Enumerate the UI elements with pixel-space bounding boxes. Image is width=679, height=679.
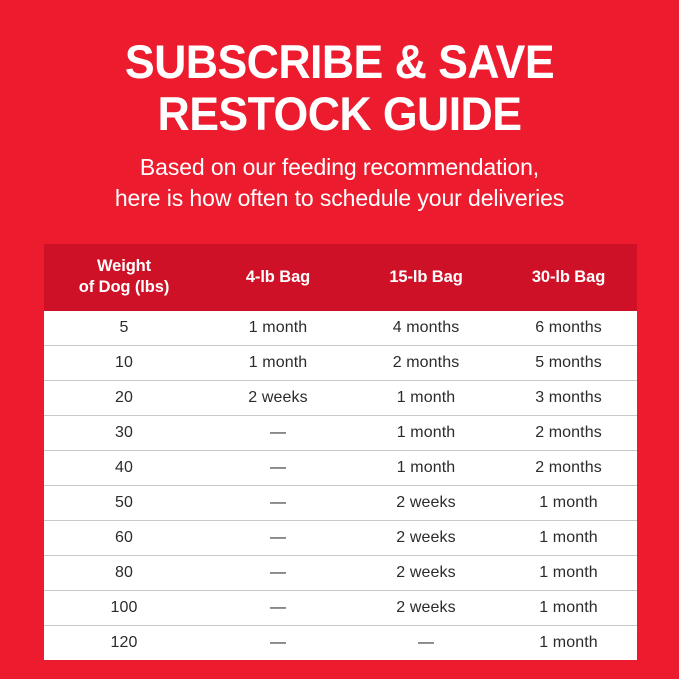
cell-30lb-bag: 1 month	[500, 591, 637, 626]
page-subtitle-line-2: here is how often to schedule your deliv…	[0, 183, 679, 214]
column-header-weight: Weight of Dog (lbs)	[44, 244, 204, 311]
cell-4lb-bag: —	[204, 626, 352, 661]
cell-4lb-bag: —	[204, 451, 352, 486]
cell-30lb-bag: 1 month	[500, 626, 637, 661]
cell-weight: 40	[44, 451, 204, 486]
cell-15lb-bag: 1 month	[352, 381, 500, 416]
cell-weight: 80	[44, 556, 204, 591]
cell-4lb-bag: —	[204, 556, 352, 591]
table-header: Weight of Dog (lbs) 4-lb Bag 15-lb Bag 3…	[44, 244, 637, 311]
column-header-4lb-bag: 4-lb Bag	[204, 244, 352, 311]
page-title-line-2: RESTOCK GUIDE	[17, 88, 662, 140]
cell-30lb-bag: 2 months	[500, 451, 637, 486]
table-row: 40—1 month2 months	[44, 451, 637, 486]
restock-table-container: Weight of Dog (lbs) 4-lb Bag 15-lb Bag 3…	[44, 244, 637, 660]
cell-weight: 120	[44, 626, 204, 661]
cell-weight: 50	[44, 486, 204, 521]
cell-15lb-bag: 2 months	[352, 346, 500, 381]
page-title: SUBSCRIBE & SAVE RESTOCK GUIDE	[17, 36, 662, 140]
cell-30lb-bag: 1 month	[500, 486, 637, 521]
cell-30lb-bag: 2 months	[500, 416, 637, 451]
page-title-line-1: SUBSCRIBE & SAVE	[17, 36, 662, 88]
cell-weight: 60	[44, 521, 204, 556]
cell-30lb-bag: 3 months	[500, 381, 637, 416]
cell-4lb-bag: —	[204, 521, 352, 556]
cell-30lb-bag: 5 months	[500, 346, 637, 381]
page-subtitle-line-1: Based on our feeding recommendation,	[0, 152, 679, 183]
cell-15lb-bag: 1 month	[352, 416, 500, 451]
cell-4lb-bag: —	[204, 591, 352, 626]
cell-4lb-bag: 1 month	[204, 346, 352, 381]
cell-weight: 100	[44, 591, 204, 626]
cell-15lb-bag: —	[352, 626, 500, 661]
cell-4lb-bag: 2 weeks	[204, 381, 352, 416]
cell-15lb-bag: 2 weeks	[352, 521, 500, 556]
column-header-15lb-bag: 15-lb Bag	[352, 244, 500, 311]
column-header-30lb-bag: 30-lb Bag	[500, 244, 637, 311]
cell-4lb-bag: —	[204, 486, 352, 521]
restock-guide-poster: SUBSCRIBE & SAVE RESTOCK GUIDE Based on …	[0, 0, 679, 679]
table-row: 120——1 month	[44, 626, 637, 661]
table-row: 80—2 weeks1 month	[44, 556, 637, 591]
cell-15lb-bag: 2 weeks	[352, 591, 500, 626]
cell-30lb-bag: 6 months	[500, 311, 637, 346]
table-row: 100—2 weeks1 month	[44, 591, 637, 626]
cell-30lb-bag: 1 month	[500, 556, 637, 591]
cell-4lb-bag: 1 month	[204, 311, 352, 346]
page-subtitle: Based on our feeding recommendation, her…	[0, 152, 679, 214]
cell-15lb-bag: 2 weeks	[352, 556, 500, 591]
cell-weight: 5	[44, 311, 204, 346]
table-header-row: Weight of Dog (lbs) 4-lb Bag 15-lb Bag 3…	[44, 244, 637, 311]
cell-15lb-bag: 4 months	[352, 311, 500, 346]
restock-table: Weight of Dog (lbs) 4-lb Bag 15-lb Bag 3…	[44, 244, 637, 660]
cell-15lb-bag: 2 weeks	[352, 486, 500, 521]
cell-weight: 10	[44, 346, 204, 381]
cell-30lb-bag: 1 month	[500, 521, 637, 556]
table-row: 30—1 month2 months	[44, 416, 637, 451]
cell-15lb-bag: 1 month	[352, 451, 500, 486]
table-row: 101 month2 months5 months	[44, 346, 637, 381]
table-row: 51 month4 months6 months	[44, 311, 637, 346]
cell-4lb-bag: —	[204, 416, 352, 451]
cell-weight: 30	[44, 416, 204, 451]
table-body: 51 month4 months6 months101 month2 month…	[44, 311, 637, 660]
cell-weight: 20	[44, 381, 204, 416]
table-row: 60—2 weeks1 month	[44, 521, 637, 556]
table-row: 202 weeks1 month3 months	[44, 381, 637, 416]
table-row: 50—2 weeks1 month	[44, 486, 637, 521]
